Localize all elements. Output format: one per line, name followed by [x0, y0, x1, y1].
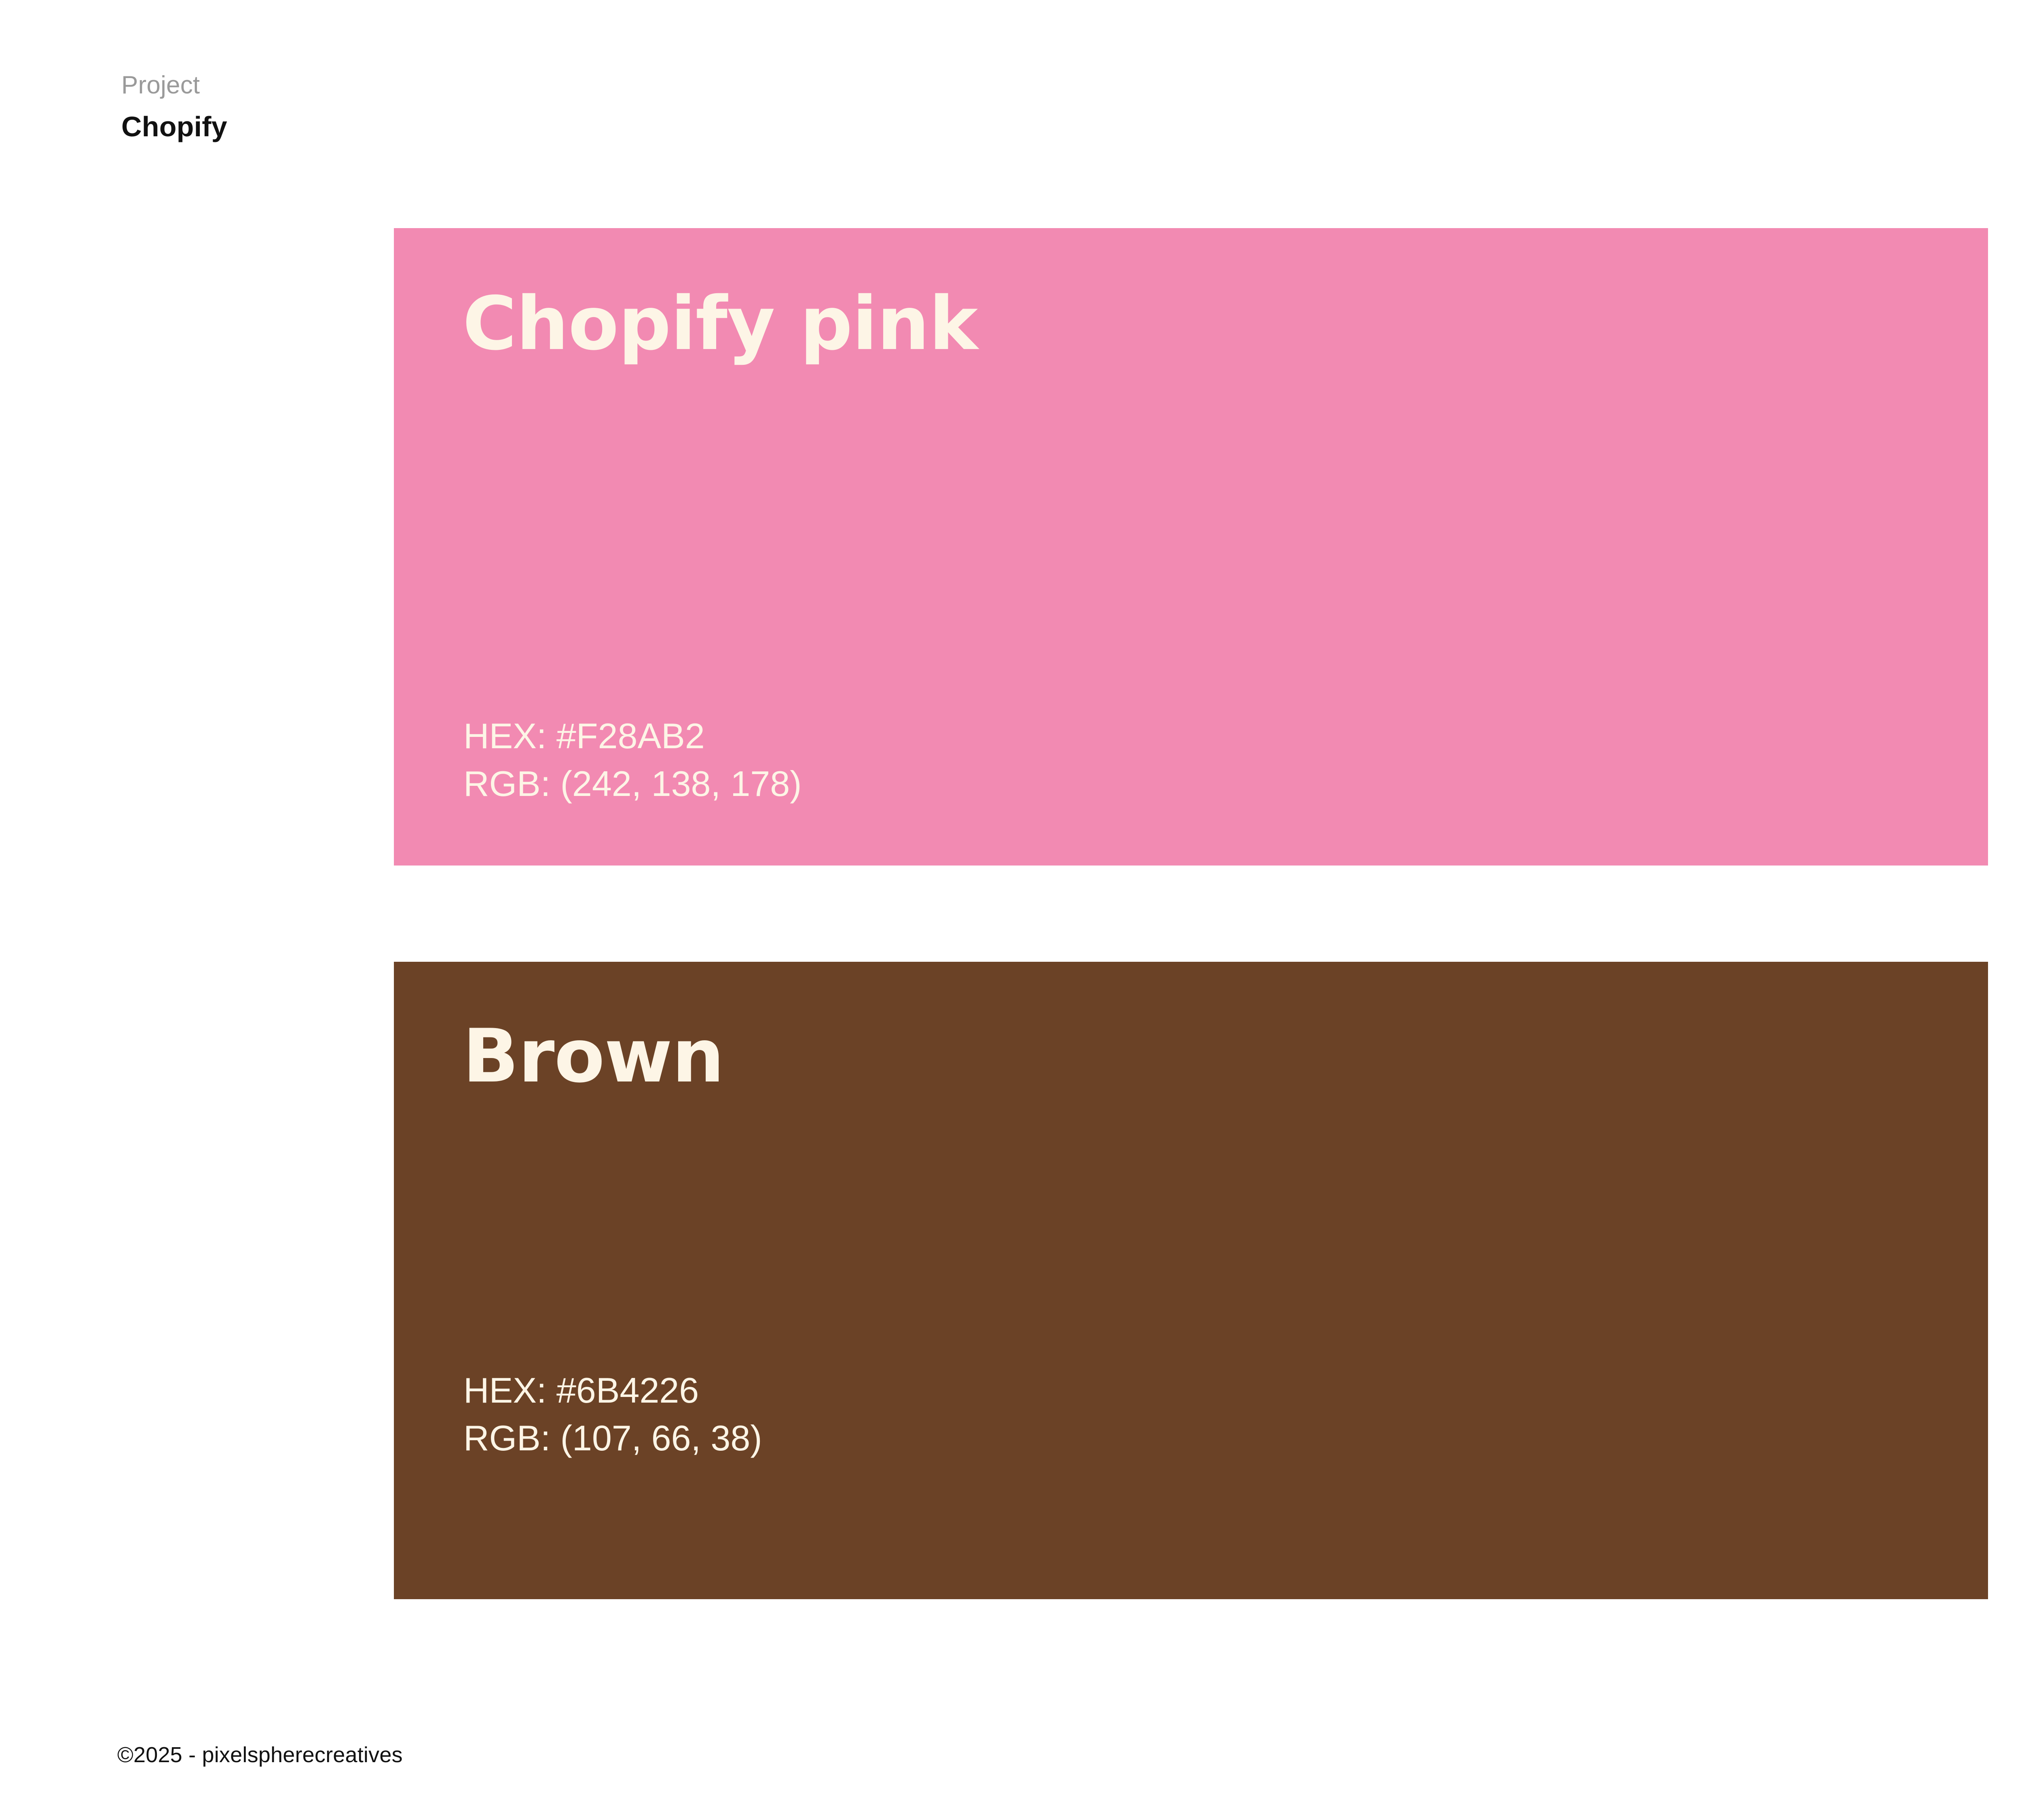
swatch-hex-value: HEX: #6B4226: [463, 1367, 762, 1414]
header-bar: Project Chopify Page 11: [0, 0, 2022, 170]
swatch-rgb-value: RGB: (107, 66, 38): [463, 1414, 762, 1462]
footer-copyright: ©2025 - pixelspherecreatives: [117, 1744, 403, 1766]
swatch-hex-value: HEX: #F28AB2: [463, 712, 802, 760]
footer-bar: ©2025 - pixelspherecreatives: [0, 1650, 2022, 1820]
project-name: Chopify: [121, 112, 227, 141]
swatch-meta: HEX: #6B4226 RGB: (107, 66, 38): [463, 1367, 762, 1462]
color-swatch-chopify-pink[interactable]: Chopify pink HEX: #F28AB2 RGB: (242, 138…: [394, 228, 1988, 866]
swatch-rgb-value: RGB: (242, 138, 178): [463, 760, 802, 808]
color-swatch-brown[interactable]: Brown HEX: #6B4226 RGB: (107, 66, 38): [394, 962, 1988, 1599]
swatch-meta: HEX: #F28AB2 RGB: (242, 138, 178): [463, 712, 802, 808]
project-label: Project: [121, 73, 200, 98]
swatch-title: Brown: [463, 1019, 724, 1093]
swatch-title: Chopify pink: [463, 287, 977, 360]
